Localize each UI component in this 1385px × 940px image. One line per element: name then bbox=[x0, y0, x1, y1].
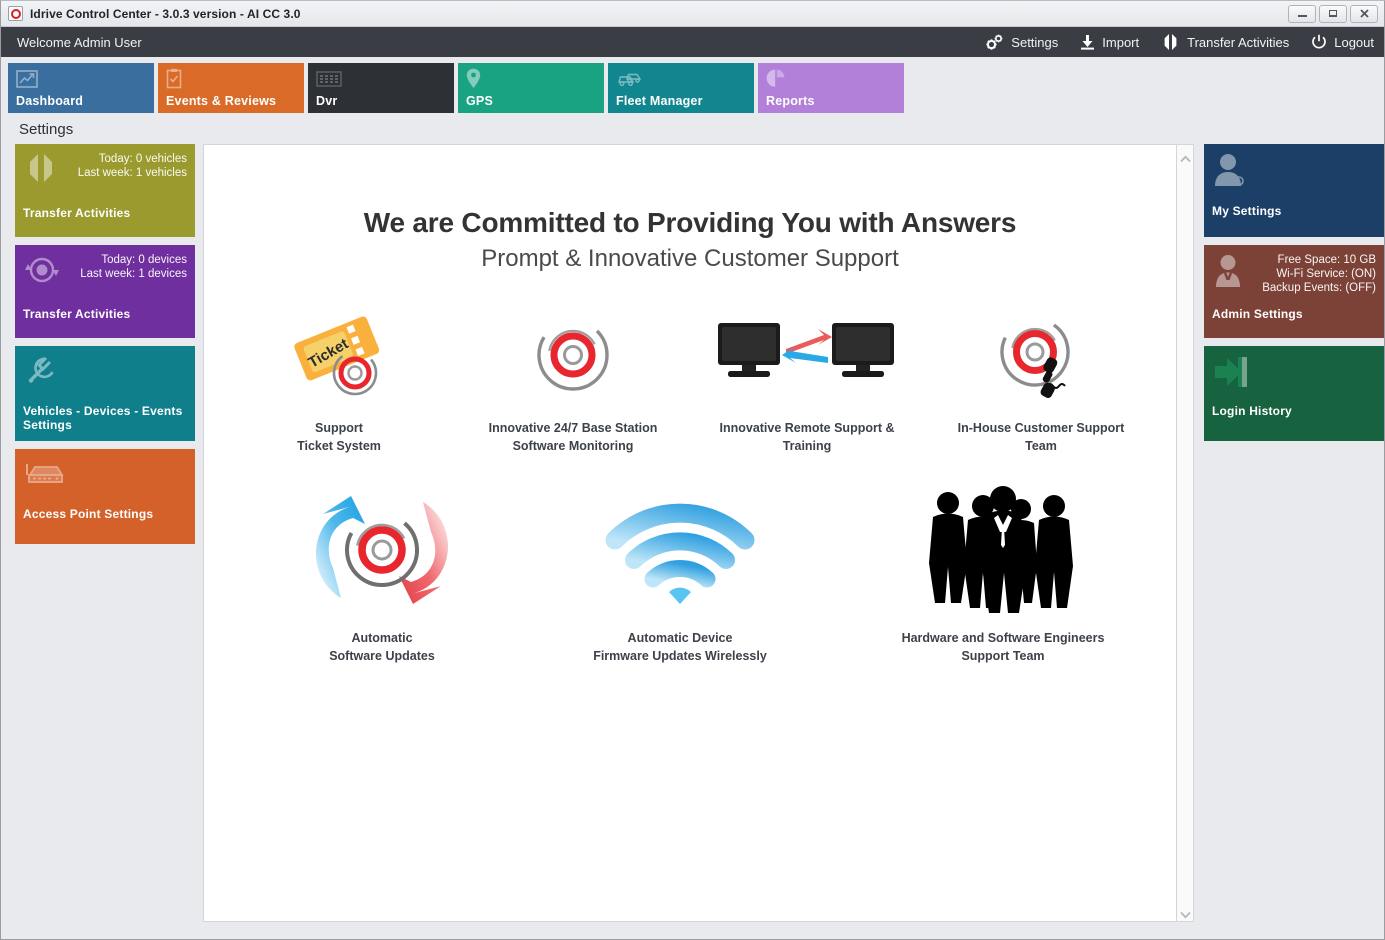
feature-row-2: Automatic Software Updates bbox=[204, 485, 1176, 665]
people-group-icon bbox=[883, 485, 1123, 615]
feature-caption: Automatic Device Firmware Updates Wirele… bbox=[585, 629, 775, 665]
two-monitors-arrows-icon bbox=[712, 305, 902, 405]
welcome-message: Welcome Admin User bbox=[17, 35, 142, 50]
target-monitor-icon bbox=[478, 305, 668, 405]
sidebar-item-label: Transfer Activities bbox=[23, 206, 187, 220]
transfer-arrows-icon bbox=[24, 153, 58, 188]
header-import-button[interactable]: Import bbox=[1080, 34, 1139, 50]
wifi-icon bbox=[585, 485, 775, 615]
header-transfer-activities-button[interactable]: Transfer Activities bbox=[1161, 34, 1289, 50]
transfer-arrows-icon bbox=[1161, 34, 1180, 50]
sidebar-item-access-point-settings[interactable]: Access Point Settings bbox=[15, 449, 195, 544]
target-logo-icon bbox=[8, 6, 23, 21]
tab-reports-label: Reports bbox=[766, 94, 815, 108]
main-nav-tabs: Dashboard Events & Reviews Dvr bbox=[1, 57, 1384, 113]
left-sidebar: Today: 0 vehicles Last week: 1 vehicles … bbox=[15, 144, 195, 922]
scroll-down-icon[interactable] bbox=[1180, 906, 1190, 916]
sidebar-item-transfer-activities-devices[interactable]: Today: 0 devices Last week: 1 devices Tr… bbox=[15, 245, 195, 338]
feature-automatic-firmware-updates: Automatic Device Firmware Updates Wirele… bbox=[585, 485, 775, 665]
sidebar-item-transfer-activities-vehicles[interactable]: Today: 0 vehicles Last week: 1 vehicles … bbox=[15, 144, 195, 237]
feature-support-ticket-system: Ticket Support Ticket System bbox=[244, 305, 434, 455]
user-icon bbox=[1213, 153, 1245, 192]
content-area: We are Committed to Providing You with A… bbox=[203, 144, 1194, 922]
header-logout-label: Logout bbox=[1334, 35, 1374, 50]
tab-events-reviews-label: Events & Reviews bbox=[166, 94, 276, 108]
feature-automatic-software-updates: Automatic Software Updates bbox=[287, 485, 477, 665]
tab-gps[interactable]: GPS bbox=[458, 63, 604, 113]
feature-caption: Automatic Software Updates bbox=[287, 629, 477, 665]
header-import-label: Import bbox=[1102, 35, 1139, 50]
header-settings-button[interactable]: Settings bbox=[985, 34, 1058, 51]
sidebar-item-label: Vehicles - Devices - Events Settings bbox=[23, 404, 187, 432]
router-icon bbox=[24, 458, 66, 493]
app-header: Welcome Admin User Settings bbox=[1, 27, 1384, 57]
tab-dvr[interactable]: Dvr bbox=[308, 63, 454, 113]
tab-fleet-manager-label: Fleet Manager bbox=[616, 94, 703, 108]
sidebar-item-vehicles-devices-events-settings[interactable]: Vehicles - Devices - Events Settings bbox=[15, 346, 195, 441]
refresh-target-icon bbox=[287, 485, 477, 615]
gears-icon bbox=[985, 34, 1004, 51]
tab-dvr-label: Dvr bbox=[316, 94, 337, 108]
sidebar-item-label: Admin Settings bbox=[1212, 307, 1376, 321]
header-transfer-label: Transfer Activities bbox=[1187, 35, 1289, 50]
sidebar-item-admin-settings[interactable]: Free Space: 10 GB Wi-Fi Service: (ON) Ba… bbox=[1204, 245, 1384, 338]
content-columns: Today: 0 vehicles Last week: 1 vehicles … bbox=[1, 144, 1384, 922]
sidebar-item-label: Transfer Activities bbox=[23, 307, 187, 321]
tab-reports[interactable]: Reports bbox=[758, 63, 904, 113]
feature-remote-support-training: Innovative Remote Support & Training bbox=[712, 305, 902, 455]
login-door-icon bbox=[1213, 355, 1249, 394]
hero-block: We are Committed to Providing You with A… bbox=[204, 145, 1176, 273]
window-title: Idrive Control Center - 3.0.3 version - … bbox=[30, 7, 301, 21]
page-title: Settings bbox=[1, 113, 1384, 144]
scroll-up-icon[interactable] bbox=[1180, 150, 1190, 160]
application-window: Idrive Control Center - 3.0.3 version - … bbox=[0, 0, 1385, 940]
right-sidebar: My Settings Free Space: 10 GB Wi-Fi Serv… bbox=[1204, 144, 1384, 922]
window-controls bbox=[1288, 5, 1382, 23]
feature-engineers-support-team: Hardware and Software Engineers Support … bbox=[883, 485, 1123, 665]
feature-caption: Hardware and Software Engineers Support … bbox=[883, 629, 1123, 665]
admin-user-icon bbox=[1213, 254, 1243, 293]
clipboard-check-icon bbox=[166, 67, 304, 90]
target-phone-icon bbox=[946, 305, 1136, 405]
content-scrollbar[interactable] bbox=[1177, 144, 1194, 922]
maximize-button[interactable] bbox=[1319, 5, 1347, 23]
tab-dashboard[interactable]: Dashboard bbox=[8, 63, 154, 113]
sidebar-item-label: Access Point Settings bbox=[23, 507, 187, 521]
tab-dashboard-label: Dashboard bbox=[16, 94, 83, 108]
tab-gps-label: GPS bbox=[466, 94, 493, 108]
hero-subhead: Prompt & Innovative Customer Support bbox=[204, 245, 1176, 273]
chart-trend-icon bbox=[16, 67, 154, 90]
feature-row-1: Ticket Support Ticket System bbox=[204, 305, 1176, 455]
header-settings-label: Settings bbox=[1011, 35, 1058, 50]
download-icon bbox=[1080, 34, 1095, 50]
header-actions: Settings Import bbox=[985, 34, 1374, 51]
feature-caption: Support Ticket System bbox=[244, 419, 434, 455]
power-icon bbox=[1311, 34, 1327, 50]
ticket-target-icon: Ticket bbox=[244, 305, 434, 405]
tab-events-reviews[interactable]: Events & Reviews bbox=[158, 63, 304, 113]
sidebar-item-label: My Settings bbox=[1212, 204, 1376, 218]
minimize-button[interactable] bbox=[1288, 5, 1316, 23]
close-button[interactable] bbox=[1350, 5, 1378, 23]
hero-headline: We are Committed to Providing You with A… bbox=[204, 207, 1176, 239]
sync-device-icon bbox=[24, 254, 60, 291]
header-logout-button[interactable]: Logout bbox=[1311, 34, 1374, 50]
vehicles-icon bbox=[616, 67, 754, 90]
dvr-icon bbox=[316, 67, 454, 90]
sidebar-item-my-settings[interactable]: My Settings bbox=[1204, 144, 1384, 237]
map-pin-icon bbox=[466, 67, 604, 90]
tab-fleet-manager[interactable]: Fleet Manager bbox=[608, 63, 754, 113]
title-bar: Idrive Control Center - 3.0.3 version - … bbox=[1, 1, 1384, 27]
wrench-icon bbox=[24, 355, 60, 394]
feature-in-house-support-team: In-House Customer Support Team bbox=[946, 305, 1136, 455]
page-body: Settings Today: 0 vehicles Last week: 1 … bbox=[1, 113, 1384, 939]
pie-chart-icon bbox=[766, 67, 904, 90]
feature-caption: Innovative 24/7 Base Station Software Mo… bbox=[478, 419, 668, 455]
feature-caption: In-House Customer Support Team bbox=[946, 419, 1136, 455]
sidebar-item-login-history[interactable]: Login History bbox=[1204, 346, 1384, 441]
support-overview-panel: We are Committed to Providing You with A… bbox=[203, 144, 1177, 922]
sidebar-item-label: Login History bbox=[1212, 404, 1376, 418]
feature-base-station-monitoring: Innovative 24/7 Base Station Software Mo… bbox=[478, 305, 668, 455]
feature-caption: Innovative Remote Support & Training bbox=[712, 419, 902, 455]
